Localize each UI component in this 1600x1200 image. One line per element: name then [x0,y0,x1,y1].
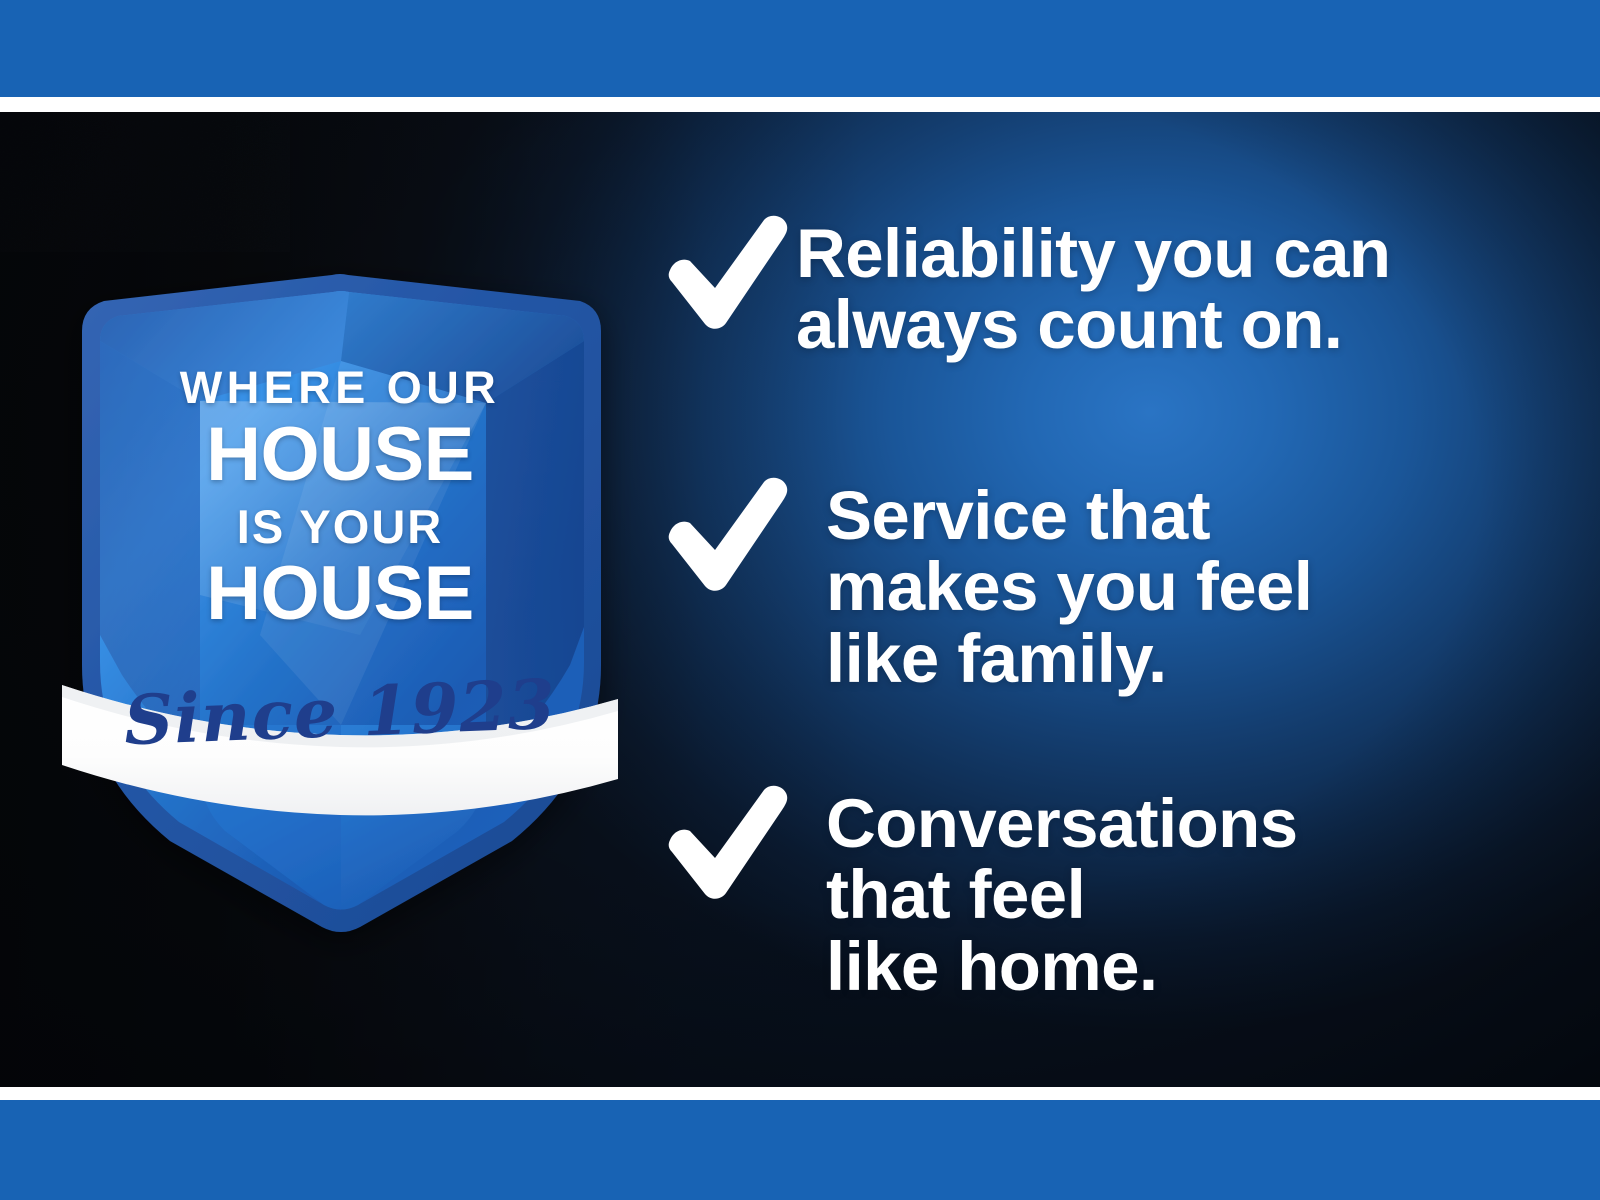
top-brand-bar [0,0,1600,97]
benefit-item-1: Reliability you can always count on. [660,212,1390,361]
promo-graphic: WHERE OUR HOUSE IS YOUR HOUSE Since 1923… [0,0,1600,1200]
check-icon [660,782,790,902]
benefit-1-line-1: Reliability you can [796,218,1390,289]
benefit-3-line-2: that feel [826,859,1298,930]
benefits-list: Reliability you can always count on. Ser… [660,112,1600,1087]
top-white-divider [0,97,1600,112]
benefit-1-line-2: always count on. [796,289,1390,360]
benefit-text-2: Service that makes you feel like family. [826,474,1312,694]
benefit-item-3: Conversations that feel like home. [660,782,1298,1002]
benefit-2-line-2: makes you feel [826,551,1312,622]
benefit-text-1: Reliability you can always count on. [796,212,1390,361]
shield-badge: WHERE OUR HOUSE IS YOUR HOUSE Since 1923 [60,165,620,955]
benefit-2-line-1: Service that [826,480,1312,551]
bottom-white-divider [0,1087,1600,1100]
bottom-brand-bar [0,1100,1600,1200]
check-icon [660,212,790,332]
benefit-text-3: Conversations that feel like home. [826,782,1298,1002]
benefit-3-line-1: Conversations [826,788,1298,859]
check-icon [660,474,790,594]
benefit-2-line-3: like family. [826,623,1312,694]
benefit-item-2: Service that makes you feel like family. [660,474,1312,694]
benefit-3-line-3: like home. [826,931,1298,1002]
